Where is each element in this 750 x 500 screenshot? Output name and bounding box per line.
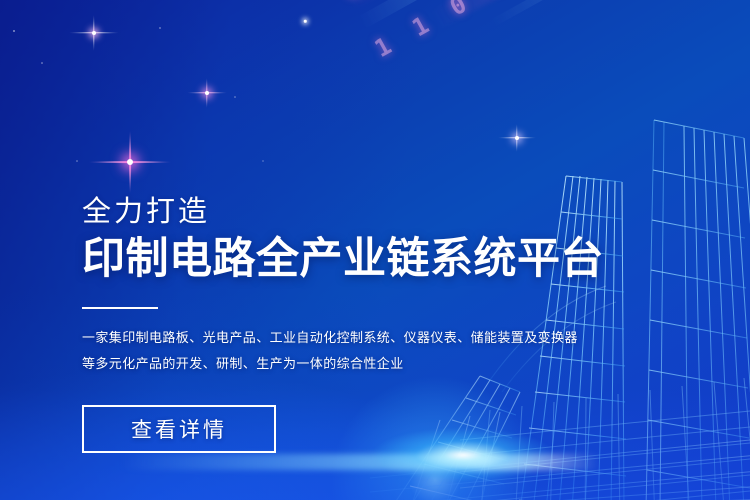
view-details-button[interactable]: 查看详情	[82, 405, 276, 453]
dust-particle	[159, 27, 161, 29]
hero-content: 全力打造 印制电路全产业链系统平台 一家集印制电路板、光电产品、工业自动化控制系…	[82, 196, 682, 453]
hero-banner: 1 0 1 0 1 0 0 1 1 0 1 0 1 1 0 0 1 0 1 0 …	[0, 0, 750, 500]
hero-description-line-2: 等多元化产品的开发、研制、生产为一体的综合性企业	[82, 351, 682, 377]
sparkle-star-icon	[299, 15, 311, 27]
page-title: 印制电路全产业链系统平台	[82, 236, 682, 282]
sparkle-star-icon	[186, 72, 228, 114]
dust-particle	[13, 30, 15, 32]
title-divider	[82, 307, 158, 309]
sparkle-star-icon	[497, 118, 537, 158]
dust-particle	[262, 160, 264, 162]
sparkle-star-icon	[68, 7, 120, 59]
hero-description-line-1: 一家集印制电路板、光电产品、工业自动化控制系统、仪器仪表、储能装置及变换器	[82, 325, 682, 351]
dust-particle	[234, 96, 236, 98]
dust-particle	[76, 160, 78, 162]
dust-particle	[41, 62, 43, 64]
sparkle-star-icon	[88, 120, 172, 204]
hero-eyebrow: 全力打造	[82, 196, 682, 229]
